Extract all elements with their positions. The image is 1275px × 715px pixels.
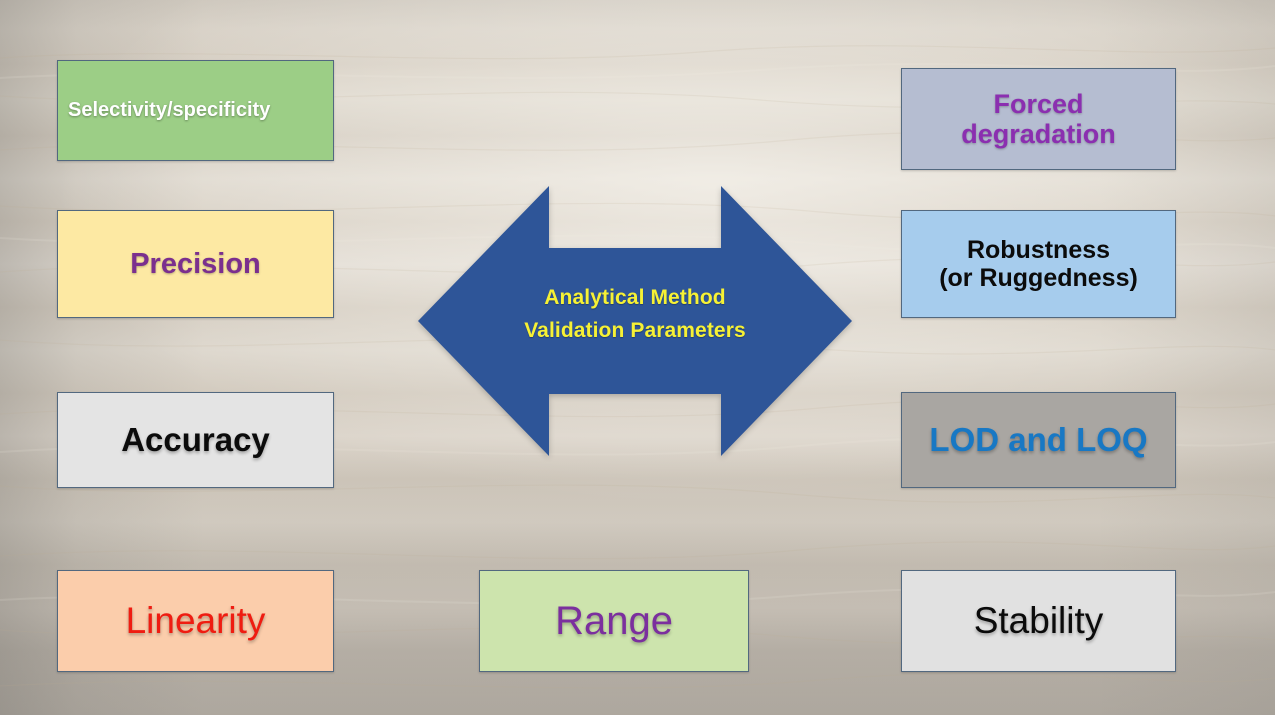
parameter-box-forced-degradation[interactable]: Forced degradation	[901, 68, 1176, 170]
parameter-box-range[interactable]: Range	[479, 570, 749, 672]
parameter-box-stability[interactable]: Stability	[901, 570, 1176, 672]
parameter-box-lod-and-loq[interactable]: LOD and LOQ	[901, 392, 1176, 488]
parameter-box-robustness[interactable]: Robustness (or Ruggedness)	[901, 210, 1176, 318]
parameter-box-precision[interactable]: Precision	[57, 210, 334, 318]
parameter-box-linearity[interactable]: Linearity	[57, 570, 334, 672]
parameter-box-selectivity[interactable]: Selectivity/specificity	[57, 60, 334, 161]
double-arrow-polygon	[418, 186, 852, 456]
parameter-box-accuracy[interactable]: Accuracy	[57, 392, 334, 488]
double-headed-arrow-shape[interactable]	[418, 184, 852, 458]
